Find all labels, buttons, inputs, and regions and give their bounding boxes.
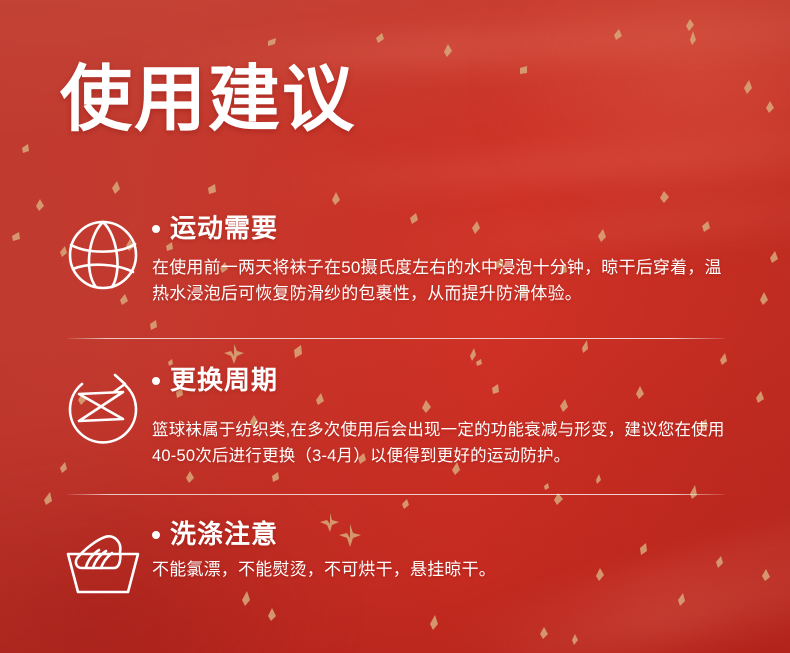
section-title-label: 运动需要 bbox=[170, 214, 278, 243]
section-replacement-cycle: 更换周期 篮球袜属于纺织类,在多次使用后会出现一定的功能衰减与形变，建议您在使用… bbox=[0, 366, 790, 469]
divider bbox=[68, 338, 724, 339]
section-sport-need: 运动需要 在使用前一两天将袜子在50摄氏度左右的水中浸泡十分钟，晾干后穿着，温热… bbox=[0, 214, 790, 307]
section-wash-care: 洗涤注意 不能氯漂，不能熨烫，不可烘干，悬挂晾干。 bbox=[0, 520, 790, 583]
page-title: 使用建议 bbox=[60, 64, 356, 136]
section-title-label: 更换周期 bbox=[170, 366, 278, 395]
section-title: 运动需要 bbox=[152, 214, 750, 243]
section-title-label: 洗涤注意 bbox=[170, 520, 278, 549]
section-title: 洗涤注意 bbox=[152, 520, 750, 549]
section-text: 不能氯漂，不能熨烫，不可烘干，悬挂晾干。 bbox=[152, 557, 732, 583]
bullet-dot bbox=[152, 225, 160, 233]
bullet-dot bbox=[152, 531, 160, 539]
usage-advice-poster: 使用建议 运动需要 在使用前一两天将袜子在50摄氏度左右的水中浸泡十分钟，晾干后… bbox=[0, 0, 790, 653]
section-text: 在使用前一两天将袜子在50摄氏度左右的水中浸泡十分钟，晾干后穿着，温热水浸泡后可… bbox=[152, 255, 732, 307]
divider bbox=[68, 494, 724, 495]
section-text: 篮球袜属于纺织类,在多次使用后会出现一定的功能衰减与形变，建议您在使用40-50… bbox=[152, 417, 732, 469]
replacement-cycle-icon bbox=[62, 366, 144, 448]
section-title: 更换周期 bbox=[152, 366, 750, 395]
basketball-icon bbox=[62, 214, 144, 296]
hand-wash-icon bbox=[62, 524, 144, 606]
bullet-dot bbox=[152, 377, 160, 385]
